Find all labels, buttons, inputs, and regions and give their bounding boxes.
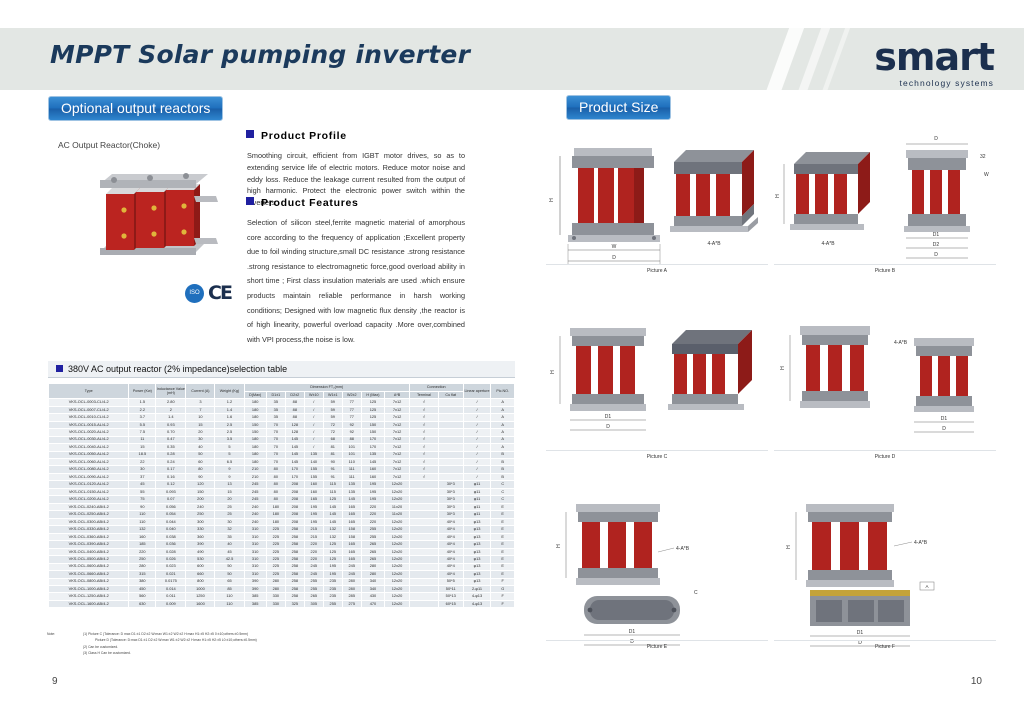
- cell-type: VKS-OCL-0390-AB/4-2: [49, 541, 129, 548]
- cell-value: 145: [323, 511, 342, 518]
- cell-value: 180: [266, 503, 285, 510]
- cell-value: 7x12: [385, 429, 410, 436]
- cell-value: 101: [342, 444, 361, 451]
- cell-value: 125: [323, 548, 342, 555]
- cell-value: √: [409, 459, 438, 466]
- bullet-square-icon: [246, 130, 254, 138]
- cell-type: VKS-OCL-0150-AL/4-2: [49, 488, 129, 495]
- cell-value: 70: [266, 444, 285, 451]
- table-row: VKS-OCL-1600-AB/4-26300.0091600110385330…: [49, 600, 515, 607]
- cell-value: 40: [215, 541, 244, 548]
- cell-value: 20: [186, 429, 215, 436]
- cell-value: 80: [266, 481, 285, 488]
- cell-value: 7x12: [385, 444, 410, 451]
- cell-value: 135: [361, 451, 384, 458]
- svg-text:D: D: [606, 424, 610, 430]
- cell-value: 0.17: [156, 466, 186, 473]
- cell-value: E: [491, 541, 515, 548]
- cell-value: 9: [215, 473, 244, 480]
- picture-d-drawing: H 4-A*B D1 D: [774, 304, 996, 464]
- cell-type: VKS-OCL-0060-AL/4-2: [49, 459, 129, 466]
- cell-value: 0.35: [156, 444, 186, 451]
- cell-value: [438, 451, 463, 458]
- cell-value: 158: [342, 533, 361, 540]
- table-row: VKS-OCL-0150-AL/4-2550.09315015245802081…: [49, 488, 515, 495]
- cell-value: 360: [186, 533, 215, 540]
- cell-type: VKS-OCL-0010-CL/4-2: [49, 414, 129, 421]
- cell-value: 258: [285, 548, 304, 555]
- cell-value: 210: [244, 466, 266, 473]
- cell-value: φ13: [463, 541, 491, 548]
- table-row: VKS-OCL-0360-AB/4-21600.0383603531022525…: [49, 533, 515, 540]
- bullet-square-icon: [246, 197, 254, 205]
- cell-value: 165: [342, 548, 361, 555]
- svg-text:D1: D1: [857, 630, 864, 636]
- cell-value: 155: [304, 473, 323, 480]
- svg-text:4-A*B: 4-A*B: [894, 340, 908, 346]
- cell-value: 30*3: [438, 511, 463, 518]
- spec-table-notes: Note:(1) Picture C (Tolerance: D max D1:…: [55, 631, 257, 657]
- cell-value: 3.5: [215, 436, 244, 443]
- picture-d-cell: H 4-A*B D1 D Picture D: [774, 304, 996, 480]
- cell-value: 258: [285, 526, 304, 533]
- svg-text:4-A*B: 4-A*B: [707, 241, 721, 247]
- cell-value: 111: [342, 473, 361, 480]
- decorative-slashes: [729, 28, 849, 90]
- cell-value: 220: [361, 518, 384, 525]
- table-row: VKS-OCL-0400-AB/4-22200.0284904531022525…: [49, 548, 515, 555]
- cell-value: φ11: [463, 503, 491, 510]
- cell-value: 240: [186, 503, 215, 510]
- cell-value: 245: [244, 488, 266, 495]
- cell-value: 15: [129, 444, 156, 451]
- picture-e-cell: H 4-A*B D1 D C Picture E: [546, 490, 768, 670]
- cell-value: 258: [285, 585, 304, 592]
- cell-value: /: [463, 466, 491, 473]
- cell-value: 0.038: [156, 533, 186, 540]
- cell-value: 385: [244, 593, 266, 600]
- cell-value: 1.5: [129, 399, 156, 406]
- cell-value: 390: [186, 541, 215, 548]
- cell-value: 258: [285, 541, 304, 548]
- cell-value: 220: [361, 511, 384, 518]
- cell-value: 35: [266, 414, 285, 421]
- cell-value: 280: [129, 563, 156, 570]
- cell-value: 180: [244, 406, 266, 413]
- spec-table-body: VKS-OCL-0003-CL/4-21.52.8031.21803588/59…: [49, 399, 515, 608]
- table-row: VKS-OCL-0390-AB/4-21850.0363904031022525…: [49, 541, 515, 548]
- cell-type: VKS-OCL-0080-AL/4-2: [49, 466, 129, 473]
- cell-value: 225: [266, 526, 285, 533]
- cell-value: 430: [361, 593, 384, 600]
- table-row: VKS-OCL-0050-AL/4-218.50.285051807014513…: [49, 451, 515, 458]
- cell-value: 258: [285, 593, 304, 600]
- cell-value: √: [409, 421, 438, 428]
- cell-value: 170: [285, 473, 304, 480]
- cell-value: 15: [215, 488, 244, 495]
- cell-value: 25: [215, 511, 244, 518]
- cell-value: 225: [266, 548, 285, 555]
- col-type: Type: [49, 384, 129, 399]
- cell-value: 490: [186, 548, 215, 555]
- cell-value: 35: [266, 399, 285, 406]
- cell-value: 110: [129, 511, 156, 518]
- page-title: MPPT Solar pumping inverter: [50, 40, 470, 69]
- cell-value: 80: [266, 466, 285, 473]
- cell-value: √: [409, 451, 438, 458]
- cell-value: 145: [323, 518, 342, 525]
- cell-value: 0.044: [156, 518, 186, 525]
- cell-value: 125: [323, 556, 342, 563]
- cell-value: 40*4: [438, 541, 463, 548]
- cell-value: 315: [129, 571, 156, 578]
- cell-value: 7.5: [129, 429, 156, 436]
- cell-value: 310: [244, 541, 266, 548]
- cell-value: 59: [323, 406, 342, 413]
- picture-b-drawing: 4-A*B H D 32 W D1 D2 D: [774, 118, 996, 278]
- svg-text:4-A*B: 4-A*B: [821, 241, 835, 247]
- svg-text:D: D: [942, 426, 946, 432]
- cell-value: /: [463, 414, 491, 421]
- cell-value: 128: [285, 421, 304, 428]
- cell-value: φ13: [463, 563, 491, 570]
- cell-value: 60*15: [438, 600, 463, 607]
- cell-value: 195: [361, 488, 384, 495]
- cell-value: E: [491, 503, 515, 510]
- cell-value: 12x20: [385, 556, 410, 563]
- note-item: Picture D (Tolerance: D:max D1:±1 D2:±2 …: [95, 637, 257, 643]
- cell-value: 2: [156, 406, 186, 413]
- cell-type: VKS-OCL-0400-AB/4-2: [49, 548, 129, 555]
- cell-value: 4-φ13: [463, 593, 491, 600]
- cell-value: 7x12: [385, 406, 410, 413]
- cell-value: 240: [244, 518, 266, 525]
- cell-value: A: [491, 444, 515, 451]
- cell-value: 91: [323, 466, 342, 473]
- cell-value: 35: [215, 533, 244, 540]
- cell-value: 225: [266, 571, 285, 578]
- cell-value: 0.023: [156, 563, 186, 570]
- cell-value: 7x12: [385, 459, 410, 466]
- table-row: VKS-OCL-1250-AB/4-25600.0111250110385330…: [49, 593, 515, 600]
- picture-a-caption: Picture A: [546, 268, 768, 274]
- cell-value: 165: [342, 511, 361, 518]
- cell-value: 0.12: [156, 481, 186, 488]
- cell-value: 180: [244, 444, 266, 451]
- cell-value: 40*4: [438, 548, 463, 555]
- cell-value: 215: [304, 533, 323, 540]
- col-power: Power (Kw): [129, 384, 156, 399]
- cell-value: 225: [266, 563, 285, 570]
- cell-value: 245: [342, 563, 361, 570]
- cell-value: 81: [323, 451, 342, 458]
- cell-value: 390: [244, 578, 266, 585]
- cell-value: 160: [361, 473, 384, 480]
- cell-value: /: [304, 436, 323, 443]
- cell-value: 265: [361, 548, 384, 555]
- cell-value: /: [463, 421, 491, 428]
- cell-value: E: [491, 548, 515, 555]
- cell-value: 12x20: [385, 571, 410, 578]
- table-row: VKS-OCL-0060-AL/4-2220.24606.51807014514…: [49, 459, 515, 466]
- cell-type: VKS-OCL-0020-AL/4-2: [49, 429, 129, 436]
- cell-value: 30*3: [438, 488, 463, 495]
- picture-c-caption: Picture C: [546, 454, 768, 460]
- cell-value: [438, 399, 463, 406]
- cell-value: 18.5: [129, 451, 156, 458]
- cell-value: 12x20: [385, 518, 410, 525]
- cell-value: 330: [266, 600, 285, 607]
- cell-value: 12x20: [385, 533, 410, 540]
- cell-type: VKS-OCL-1600-AB/4-2: [49, 600, 129, 607]
- cell-value: 0.056: [156, 503, 186, 510]
- col-group-connection: Connection: [409, 384, 463, 392]
- cell-type: VKS-OCL-0250-AB/4-2: [49, 511, 129, 518]
- cell-value: 0.47: [156, 436, 186, 443]
- cell-value: φ11: [463, 511, 491, 518]
- cell-value: 12x20: [385, 526, 410, 533]
- cell-value: 30*3: [438, 503, 463, 510]
- cell-value: 258: [285, 563, 304, 570]
- picture-c-cell: H D1 D Picture C: [546, 304, 768, 480]
- cell-value: E: [491, 533, 515, 540]
- cell-value: 180: [244, 436, 266, 443]
- cell-value: 145: [285, 436, 304, 443]
- svg-text:D1: D1: [605, 414, 612, 420]
- cell-value: 208: [285, 481, 304, 488]
- cell-value: 125: [361, 399, 384, 406]
- table-row: VKS-OCL-0300-AB/4-21100.0443003024018020…: [49, 518, 515, 525]
- cell-value: 88: [285, 406, 304, 413]
- cell-value: [409, 571, 438, 578]
- cell-value: 265: [361, 541, 384, 548]
- cell-value: 35: [266, 406, 285, 413]
- cell-type: VKS-OCL-0500-AB/4-2: [49, 556, 129, 563]
- cell-type: VKS-OCL-1250-AB/4-2: [49, 593, 129, 600]
- cell-value: 220: [361, 503, 384, 510]
- cell-value: 600: [186, 563, 215, 570]
- cell-value: 258: [285, 556, 304, 563]
- cell-value: 88: [342, 436, 361, 443]
- cell-value: [438, 436, 463, 443]
- col-h: H (Max): [361, 391, 384, 399]
- cell-value: 280: [342, 578, 361, 585]
- cell-value: 1600: [186, 600, 215, 607]
- svg-text:W: W: [984, 172, 989, 178]
- cell-value: 195: [323, 563, 342, 570]
- cell-value: 200: [186, 496, 215, 503]
- cell-value: 0.040: [156, 526, 186, 533]
- cell-value: 125: [361, 406, 384, 413]
- svg-text:D: D: [934, 136, 938, 142]
- cell-value: 195: [304, 503, 323, 510]
- cell-value: [409, 593, 438, 600]
- cell-value: 250: [129, 556, 156, 563]
- cell-value: 20: [215, 496, 244, 503]
- cell-value: [438, 414, 463, 421]
- cell-value: 180: [244, 414, 266, 421]
- cell-value: 59: [323, 414, 342, 421]
- cell-type: VKS-OCL-0007-CL/4-2: [49, 406, 129, 413]
- cell-value: 70: [266, 421, 285, 428]
- cell-type: VKS-OCL-0003-CL/4-2: [49, 399, 129, 406]
- cell-value: 2.2: [129, 406, 156, 413]
- col-linear-aperture: Linear aperture: [463, 384, 491, 399]
- cell-value: 7x12: [385, 414, 410, 421]
- cell-value: 9: [215, 466, 244, 473]
- cell-value: φ13: [463, 556, 491, 563]
- svg-text:H: H: [556, 544, 562, 548]
- picture-b-cell: 4-A*B H D 32 W D1 D2 D: [774, 118, 996, 294]
- cell-value: 245: [244, 496, 266, 503]
- cell-value: 11x20: [385, 503, 410, 510]
- logo-wordmark: smart: [874, 38, 994, 76]
- svg-text:D: D: [612, 255, 616, 261]
- cell-value: [438, 473, 463, 480]
- cell-value: 220: [304, 541, 323, 548]
- cell-value: 125: [323, 496, 342, 503]
- cell-value: 70: [266, 459, 285, 466]
- cell-value: 470: [361, 600, 384, 607]
- cell-value: 12x20: [385, 585, 410, 592]
- table-row: VKS-OCL-0240-AB/4-2900.05624025240180208…: [49, 503, 515, 510]
- cell-value: 12x20: [385, 496, 410, 503]
- cell-value: 42.5: [215, 556, 244, 563]
- cell-value: /: [304, 421, 323, 428]
- cell-value: 50: [215, 571, 244, 578]
- cell-value: /: [304, 414, 323, 421]
- cell-value: 128: [285, 429, 304, 436]
- cell-value: 225: [266, 541, 285, 548]
- cell-value: 0.0175: [156, 578, 186, 585]
- table-row: VKS-OCL-0080-AL/4-2300.17809210801701559…: [49, 466, 515, 473]
- picture-f-caption: Picture F: [774, 644, 996, 650]
- cell-value: 280: [361, 571, 384, 578]
- ce-icon: CE: [208, 282, 231, 304]
- cell-value: 80: [266, 488, 285, 495]
- cell-value: F: [491, 578, 515, 585]
- section-pill-product-size: Product Size: [566, 95, 671, 120]
- cell-value: 145: [285, 451, 304, 458]
- cell-value: 208: [285, 518, 304, 525]
- cell-value: 630: [129, 600, 156, 607]
- cell-value: 258: [285, 571, 304, 578]
- cell-value: 258: [285, 533, 304, 540]
- cell-value: 12x20: [385, 563, 410, 570]
- svg-text:A: A: [925, 584, 928, 589]
- cell-value: [409, 585, 438, 592]
- page-header: MPPT Solar pumping inverter smart techno…: [0, 28, 1024, 90]
- cell-value: 180: [266, 511, 285, 518]
- cell-value: 0.16: [156, 473, 186, 480]
- cell-value: √: [409, 436, 438, 443]
- cell-value: [409, 548, 438, 555]
- cell-value: 55: [129, 488, 156, 495]
- cell-value: 1250: [186, 593, 215, 600]
- cell-value: 145: [323, 503, 342, 510]
- cell-value: 165: [342, 541, 361, 548]
- cell-value: √: [409, 466, 438, 473]
- cell-value: 1.4: [215, 406, 244, 413]
- cell-value: 195: [304, 518, 323, 525]
- cell-value: 65: [215, 578, 244, 585]
- cell-value: 5: [215, 444, 244, 451]
- cell-value: 245: [342, 571, 361, 578]
- cell-value: [438, 406, 463, 413]
- picture-c-drawing: H D1 D: [546, 304, 768, 464]
- cell-value: 37: [129, 473, 156, 480]
- spec-table-head: Type Power (Kw) Inductance Value (mH) Cu…: [49, 384, 515, 399]
- table-row: VKS-OCL-0015-AL/4-25.50.93152.515070128/…: [49, 421, 515, 428]
- svg-text:W: W: [612, 244, 617, 250]
- cell-value: 225: [266, 533, 285, 540]
- cell-value: [409, 481, 438, 488]
- cell-value: 215: [304, 526, 323, 533]
- col-w2: W2±2: [342, 391, 361, 399]
- col-terminal: Terminal: [409, 391, 438, 399]
- cell-value: G: [491, 585, 515, 592]
- cell-value: 50*11: [438, 585, 463, 592]
- cell-value: /: [463, 444, 491, 451]
- picture-e-drawing: H 4-A*B D1 D C: [546, 490, 768, 654]
- cell-value: 77: [342, 414, 361, 421]
- cell-value: 3.7: [129, 414, 156, 421]
- cell-value: A: [491, 429, 515, 436]
- cell-value: φ13: [463, 533, 491, 540]
- cell-value: 158: [342, 526, 361, 533]
- cell-value: 150: [361, 421, 384, 428]
- cell-value: 40*4: [438, 571, 463, 578]
- table-row: VKS-OCL-0500-AB/4-22500.02653042.5310225…: [49, 556, 515, 563]
- cell-value: 132: [323, 526, 342, 533]
- product-features-heading: Product Features: [246, 197, 359, 209]
- cell-value: E: [491, 526, 515, 533]
- cell-value: 115: [323, 488, 342, 495]
- cell-value: 208: [285, 511, 304, 518]
- cell-value: 72: [323, 421, 342, 428]
- cell-value: 25: [215, 503, 244, 510]
- cell-value: 30: [215, 518, 244, 525]
- cell-value: 135: [304, 451, 323, 458]
- cell-value: E: [491, 556, 515, 563]
- cell-value: 88: [285, 399, 304, 406]
- svg-text:D1: D1: [933, 232, 940, 238]
- cell-value: [438, 421, 463, 428]
- cell-value: 235: [323, 578, 342, 585]
- cell-value: 77: [342, 406, 361, 413]
- cell-value: [409, 533, 438, 540]
- cell-value: 13: [215, 481, 244, 488]
- cell-value: 170: [285, 466, 304, 473]
- cell-value: 30: [186, 436, 215, 443]
- cell-value: 300: [186, 518, 215, 525]
- table-row: VKS-OCL-0040-AL/4-2150.3540518070145/811…: [49, 444, 515, 451]
- table-row: VKS-OCL-0600-AB/4-22800.0236005031022525…: [49, 563, 515, 570]
- cell-value: 45: [215, 548, 244, 555]
- cell-value: 450: [129, 585, 156, 592]
- cell-value: 340: [361, 578, 384, 585]
- cell-value: C: [491, 496, 515, 503]
- spec-table: Type Power (Kw) Inductance Value (mH) Cu…: [48, 383, 515, 608]
- cell-value: 220: [129, 548, 156, 555]
- cell-value: 195: [323, 571, 342, 578]
- cell-value: √: [409, 399, 438, 406]
- cell-value: 310: [244, 533, 266, 540]
- picture-e-caption: Picture E: [546, 644, 768, 650]
- product-features-text: Selection of silicon steel,ferrite magne…: [247, 216, 465, 347]
- cell-value: C: [491, 481, 515, 488]
- table-row: VKS-OCL-0007-CL/4-22.2271.41803588/59771…: [49, 406, 515, 413]
